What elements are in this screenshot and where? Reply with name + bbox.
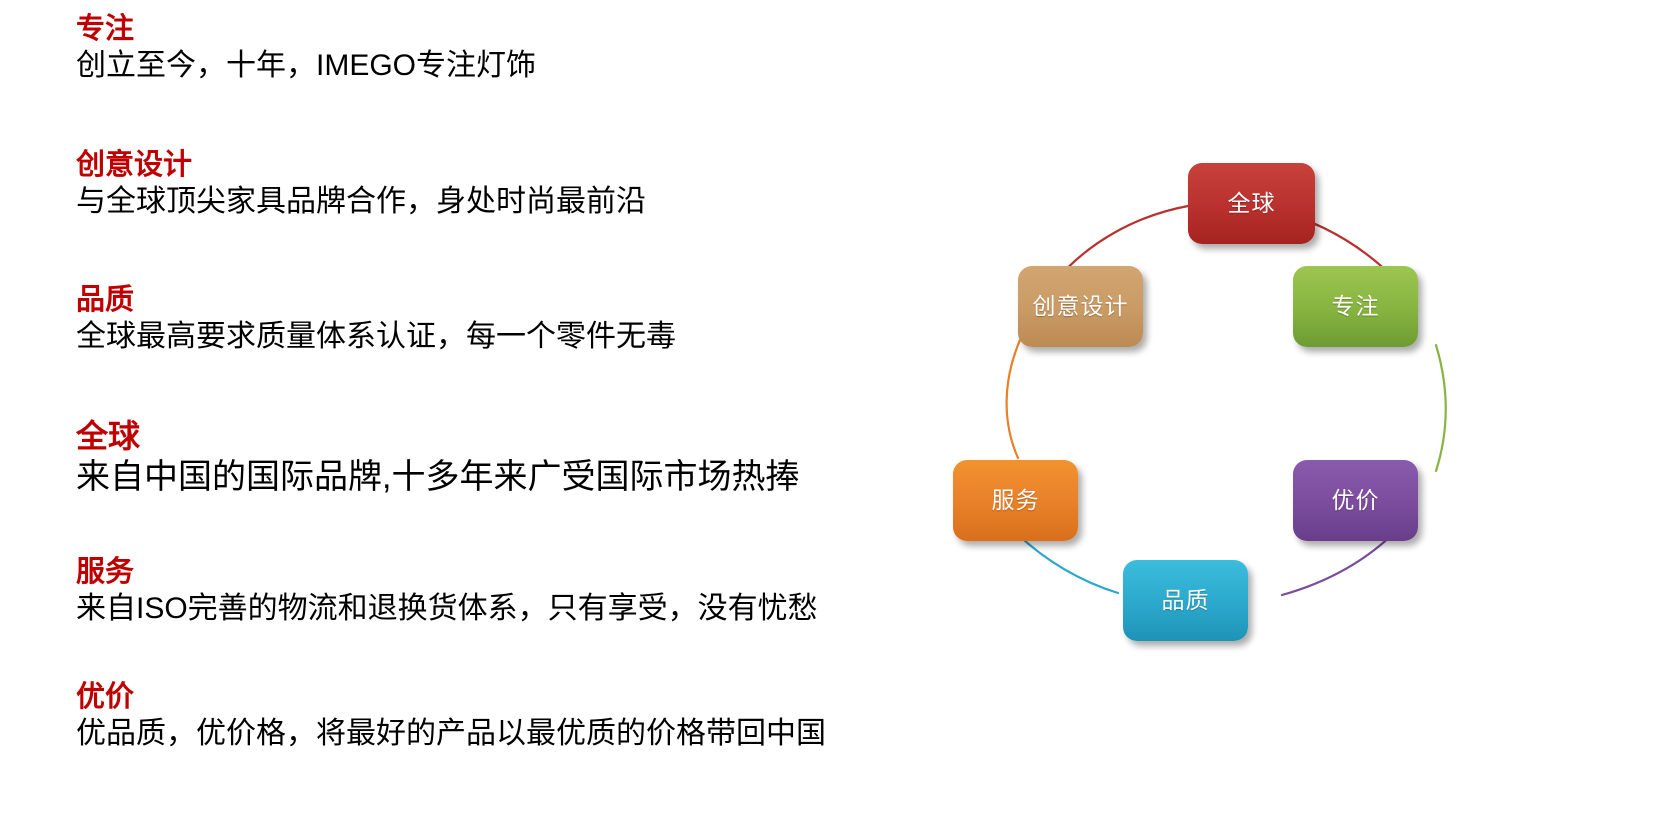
feature-body: 来自中国的国际品牌,十多年来广受国际市场热捧 xyxy=(76,455,956,499)
feature-body: 优品质，优价格，将最好的产品以最优质的价格带回中国 xyxy=(76,714,956,754)
cycle-node-chuangyisheji[interactable]: 创意设计 xyxy=(1018,266,1143,347)
cycle-node-pinzhi[interactable]: 品质 xyxy=(1123,560,1248,641)
cycle-node-youjia[interactable]: 优价 xyxy=(1293,460,1418,541)
feature-body: 来自ISO完善的物流和退换货体系，只有享受，没有忧愁 xyxy=(76,589,956,629)
feature-heading: 专注 xyxy=(76,12,956,46)
feature-body: 与全球顶尖家具品牌合作，身处时尚最前沿 xyxy=(76,182,956,222)
cycle-node-label: 专注 xyxy=(1332,295,1380,318)
feature-heading: 全球 xyxy=(76,418,956,455)
feature-heading: 优价 xyxy=(76,680,956,714)
feature-block-fuwu: 服务 来自ISO完善的物流和退换货体系，只有享受，没有忧愁 xyxy=(76,555,956,629)
feature-block-youjia: 优价 优品质，优价格，将最好的产品以最优质的价格带回中国 xyxy=(76,680,956,754)
slide-canvas: 专注 创立至今，十年，IMEGO专注灯饰 创意设计 与全球顶尖家具品牌合作，身处… xyxy=(0,0,1680,838)
cycle-node-label: 优价 xyxy=(1332,489,1380,512)
connector-arc-zhuanzhu-youjia xyxy=(1436,345,1446,471)
cycle-node-label: 创意设计 xyxy=(1033,295,1129,318)
feature-heading: 服务 xyxy=(76,555,956,589)
feature-text-column: 专注 创立至今，十年，IMEGO专注灯饰 创意设计 与全球顶尖家具品牌合作，身处… xyxy=(76,0,956,838)
cycle-node-label: 服务 xyxy=(992,489,1040,512)
six-step-cycle-diagram: 全球 专注 优价 品质 服务 创意设计 xyxy=(930,130,1470,670)
feature-block-zhuanzhu: 专注 创立至今，十年，IMEGO专注灯饰 xyxy=(76,12,956,86)
cycle-node-fuwu[interactable]: 服务 xyxy=(953,460,1078,541)
feature-heading: 品质 xyxy=(76,283,956,317)
cycle-node-label: 品质 xyxy=(1162,589,1210,612)
feature-block-chuangyisheji: 创意设计 与全球顶尖家具品牌合作，身处时尚最前沿 xyxy=(76,148,956,222)
cycle-node-zhuanzhu[interactable]: 专注 xyxy=(1293,266,1418,347)
cycle-node-quanqiu[interactable]: 全球 xyxy=(1188,163,1315,244)
cycle-node-label: 全球 xyxy=(1228,192,1276,215)
feature-body: 创立至今，十年，IMEGO专注灯饰 xyxy=(76,46,956,86)
connector-arc-fuwu-chuangyisheji xyxy=(1007,340,1020,458)
feature-heading: 创意设计 xyxy=(76,148,956,182)
feature-block-pinzhi: 品质 全球最高要求质量体系认证，每一个零件无毒 xyxy=(76,283,956,357)
feature-body: 全球最高要求质量体系认证，每一个零件无毒 xyxy=(76,317,956,357)
feature-block-quanqiu: 全球 来自中国的国际品牌,十多年来广受国际市场热捧 xyxy=(76,418,956,499)
